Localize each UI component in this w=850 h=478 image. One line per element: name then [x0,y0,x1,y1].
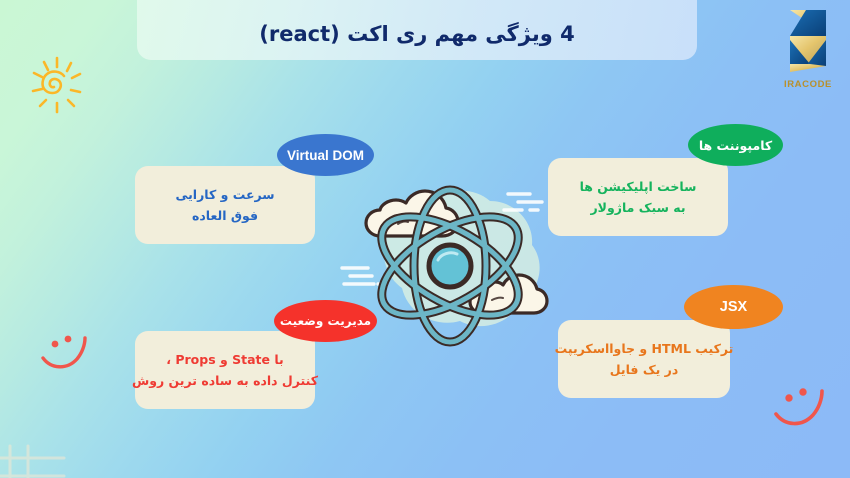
grid-doodle-icon [0,444,66,478]
feature-line: کنترل داده به ساده ترین روش [132,370,318,392]
feature-line: ترکیب HTML و جاوااسکریپت [555,338,734,360]
feature-badge-jsx[interactable]: JSX [684,285,783,329]
feature-line: فوق العاده [192,205,258,227]
feature-line: با State و Props ، [166,349,284,371]
feature-card-state-management[interactable]: با State و Props ، کنترل داده به ساده تر… [135,331,315,409]
feature-line: ساخت اپلیکیشن ها [580,176,697,198]
iracode-logo-icon [779,6,837,78]
smiley-doodle-right-icon [766,374,834,442]
feature-card-virtual-dom[interactable]: سرعت و کارایی فوق العاده [135,166,315,244]
feature-card-components[interactable]: ساخت اپلیکیشن ها به سبک ماژولار [548,158,728,236]
feature-card-jsx[interactable]: ترکیب HTML و جاوااسکریپت در یک فایل [558,320,730,398]
brand-logo: IRACODE [779,6,837,98]
feature-badge-virtual-dom[interactable]: Virtual DOM [277,134,374,176]
brand-name: IRACODE [779,79,837,90]
feature-badge-state-management[interactable]: مدیریت وضعیت [274,300,377,342]
feature-line: به سبک ماژولار [590,197,685,219]
infographic-slide: 4 ویژگی مهم ری اکت (react) [0,0,850,478]
feature-badge-components[interactable]: کامپوننت ها [688,124,783,166]
sun-doodle-icon [14,42,100,128]
feature-line: سرعت و کارایی [175,184,274,206]
page-title: 4 ویژگی مهم ری اکت (react) [137,11,697,57]
feature-line: در یک فایل [610,359,679,381]
smiley-doodle-left-icon [34,322,96,384]
